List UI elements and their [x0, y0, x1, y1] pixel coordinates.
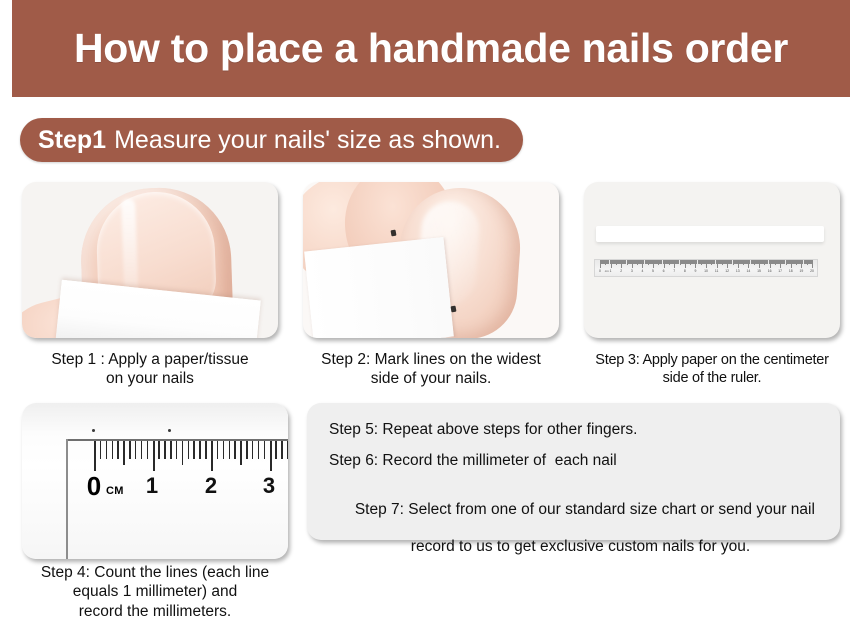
ruler-tick [188, 441, 190, 459]
step1-banner-label: Step1 [38, 126, 106, 155]
paper-strip-shape [596, 226, 824, 242]
ruler-tick [199, 441, 201, 459]
ruler-number-label: 10 [704, 269, 708, 273]
instruction-line-step7: Step 7: Select from one of our standard … [329, 482, 820, 594]
step-1-caption-line-2: on your nails [14, 369, 286, 388]
ruler-tick [153, 441, 155, 471]
instruction-line-step6: Step 6: Record the millimeter of each na… [329, 452, 820, 471]
ruler-number-label: 5 [652, 269, 654, 273]
ruler-number-label: 6 [663, 269, 665, 273]
ruler-edge-vertical [66, 439, 68, 559]
ruler-tick [117, 441, 119, 459]
step1-banner: Step1 Measure your nails' size as shown. [20, 118, 523, 162]
ruler-number-label: 19 [800, 269, 804, 273]
ruler-number-label: 7 [673, 269, 675, 273]
step1-banner-text: Measure your nails' size as shown. [114, 126, 501, 155]
ruler-number-label: 3 [631, 269, 633, 273]
ruler-number-label: 11 [715, 269, 719, 273]
step-4-caption-line-3: record the millimeters. [14, 602, 296, 621]
ruler-tick [170, 441, 172, 459]
ruler-number-label: 13 [736, 269, 740, 273]
ruler-number-label: 2 [205, 473, 217, 499]
ruler-number-label: 20 [810, 269, 814, 273]
ruler-tick [229, 441, 231, 459]
ruler-number-label: 1 [146, 473, 158, 499]
ruler-top-shade [22, 403, 288, 431]
paper-strip-shape [304, 237, 454, 338]
ruler-tick [135, 441, 137, 459]
ruler-number-label: 8 [684, 269, 686, 273]
step-3-caption-line-2: side of the ruler. [574, 369, 850, 387]
ruler-unit-label: cm [605, 269, 609, 273]
ruler-tick [176, 441, 178, 459]
step-2-caption: Step 2: Mark lines on the widest side of… [295, 350, 567, 389]
thumb-wrapped-with-paper-strip-photo [22, 182, 278, 338]
ruler-number-label: 3 [263, 473, 275, 499]
ruler-number-label: 15 [757, 269, 761, 273]
step-1-caption: Step 1 : Apply a paper/tissue on your na… [14, 350, 286, 389]
step-4-caption: Step 4: Count the lines (each line equal… [14, 563, 296, 621]
fingers-holding-marked-paper-strip-photo [303, 182, 559, 338]
ruler-tick [123, 441, 125, 465]
ruler-number-label: 12 [725, 269, 729, 273]
ruler-tick [182, 441, 184, 465]
ruler-tick [147, 441, 149, 459]
step-2-caption-line-2: side of your nails. [295, 369, 567, 388]
ruler-tick [141, 441, 143, 459]
ruler-number-label: 14 [747, 269, 751, 273]
ruler-tick [240, 441, 242, 465]
ruler-number-label: 9 [694, 269, 696, 273]
ruler-tick [252, 441, 254, 459]
ruler-tick [270, 441, 272, 471]
ruler-tick [258, 441, 260, 459]
ruler-tick [812, 260, 813, 268]
step-4-caption-line-1: Step 4: Count the lines (each line [14, 563, 296, 582]
step-3-caption-line-1: Step 3: Apply paper on the centimeter [574, 351, 850, 369]
ruler-tick [234, 441, 236, 459]
reference-dot-icon [92, 429, 95, 432]
step-4-photo-card: 0 CM 1 2 3 [22, 403, 288, 559]
step-3-photo-card: 01234567891011121314151617181920cm [584, 182, 840, 338]
step-1-photo-card [22, 182, 278, 338]
ruler-tick [281, 441, 283, 459]
pen-mark-icon [451, 306, 457, 313]
step-2-caption-line-1: Step 2: Mark lines on the widest [295, 350, 567, 369]
ruler-shape: 01234567891011121314151617181920cm [594, 259, 818, 277]
step-2-photo-card [303, 182, 559, 338]
ruler-tick [164, 441, 166, 459]
infographic-page: How to place a handmade nails order Step… [0, 0, 860, 631]
ruler-tick [217, 441, 219, 459]
ruler-tick [287, 441, 288, 459]
ruler-tick [264, 441, 266, 459]
ruler-tick [275, 441, 277, 459]
ruler-number-label: 17 [778, 269, 782, 273]
ruler-tick [100, 441, 102, 459]
ruler-tick [158, 441, 160, 459]
ruler-tick [106, 441, 108, 459]
instruction-line-step5: Step 5: Repeat above steps for other fin… [329, 421, 820, 440]
ruler-tick [129, 441, 131, 459]
ruler-closeup-centimeter-scale-photo: 0 CM 1 2 3 [22, 403, 288, 559]
page-header-band: How to place a handmade nails order [12, 0, 850, 97]
ruler-tick [193, 441, 195, 459]
ruler-number-label: 18 [789, 269, 793, 273]
ruler-tick [246, 441, 248, 459]
ruler-tick [205, 441, 207, 459]
pen-mark-icon [391, 230, 397, 237]
ruler-number-label: 2 [620, 269, 622, 273]
step-3-caption: Step 3: Apply paper on the centimeter si… [574, 351, 850, 387]
instruction-line-step7-a: Step 7: Select from one of our standard … [355, 501, 815, 518]
ruler-tick [112, 441, 114, 459]
instruction-line-step7-b: record to us to get exclusive custom nai… [329, 538, 820, 557]
ruler-number-label: 16 [768, 269, 772, 273]
reference-dot-icon [168, 429, 171, 432]
ruler-tick [211, 441, 213, 471]
instructions-panel: Step 5: Repeat above steps for other fin… [307, 403, 840, 540]
ruler-unit-label: CM [106, 485, 124, 497]
step-4-caption-line-2: equals 1 millimeter) and [14, 582, 296, 601]
ruler-number-label: 1 [610, 269, 612, 273]
step-1-caption-line-1: Step 1 : Apply a paper/tissue [14, 350, 286, 369]
ruler-tick [223, 441, 225, 459]
ruler-number-label: 4 [641, 269, 643, 273]
page-title: How to place a handmade nails order [74, 25, 788, 72]
ruler-number-label: 0 [599, 269, 601, 273]
paper-strip-on-ruler-photo: 01234567891011121314151617181920cm [584, 182, 840, 338]
ruler-tick [94, 441, 96, 471]
ruler-zero-label: 0 [87, 471, 101, 502]
